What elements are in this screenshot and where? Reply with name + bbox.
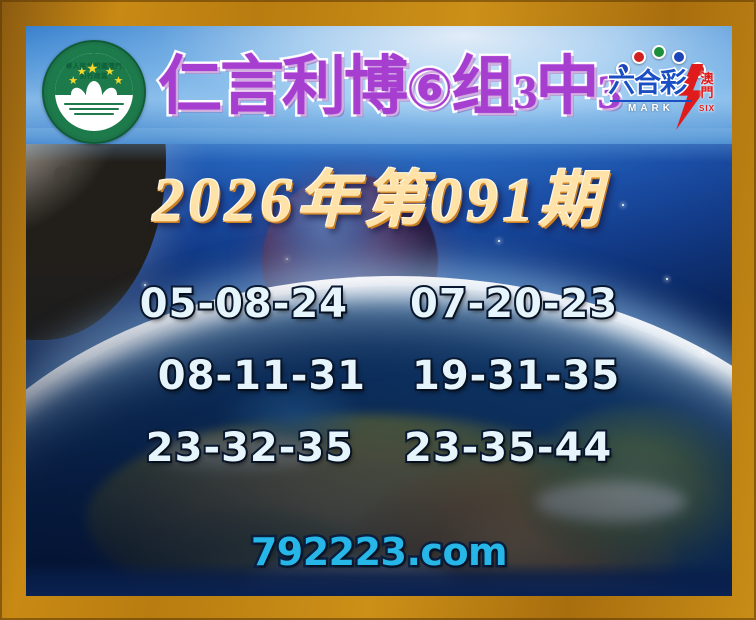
poster-canvas: 中華人民共和國澳門特別行政區 ★ ★ ★ ★ ★ MACAU 仁言利博⑥组3中3	[26, 26, 732, 596]
site-url[interactable]: 792223.com	[26, 530, 732, 574]
number-group: 05-08-24	[140, 281, 348, 327]
bridge-waves-icon	[64, 103, 124, 115]
macau-emblem-icon: 中華人民共和國澳門特別行政區 ★ ★ ★ ★ ★ MACAU	[42, 40, 146, 144]
number-group: 07-20-23	[410, 281, 618, 327]
page-title: 仁言利博⑥组3中3	[158, 56, 619, 124]
brand-vertical-text: 澳門SIX	[698, 72, 716, 116]
emblem-macau-text: MACAU	[55, 115, 133, 127]
brand-mark-text: MARK	[610, 100, 692, 114]
title-circled-six: ⑥	[406, 57, 451, 122]
brand-vertical-cn: 澳門	[700, 71, 713, 100]
brand-vertical-sub: SIX	[698, 102, 716, 116]
lottery-brand-logo: 六合彩 MARK 澳門SIX	[606, 34, 718, 142]
title-number-first: 3	[513, 66, 535, 119]
number-row: 23-32-35 23-35-44	[26, 425, 732, 471]
title-chinese: 仁言利博	[158, 50, 406, 124]
issue-title: 2026年第091期	[26, 166, 732, 236]
brand-name-cn: 六合彩	[608, 70, 686, 97]
number-rows: 05-08-24 07-20-23 08-11-31 19-31-35 23-3…	[26, 281, 732, 497]
title-group: 组	[451, 50, 513, 124]
number-row: 08-11-31 19-31-35	[26, 353, 732, 399]
number-group: 08-11-31	[158, 353, 366, 399]
emblem-star-center: ★	[86, 63, 99, 74]
number-group: 23-32-35	[146, 425, 354, 471]
number-group: 23-35-44	[404, 425, 612, 471]
title-zhong: 中	[535, 50, 597, 124]
poster-frame: 中華人民共和國澳門特別行政區 ★ ★ ★ ★ ★ MACAU 仁言利博⑥组3中3	[0, 0, 756, 620]
number-group: 19-31-35	[412, 353, 620, 399]
number-row: 05-08-24 07-20-23	[26, 281, 732, 327]
emblem-star-left-2: ★	[77, 67, 87, 78]
